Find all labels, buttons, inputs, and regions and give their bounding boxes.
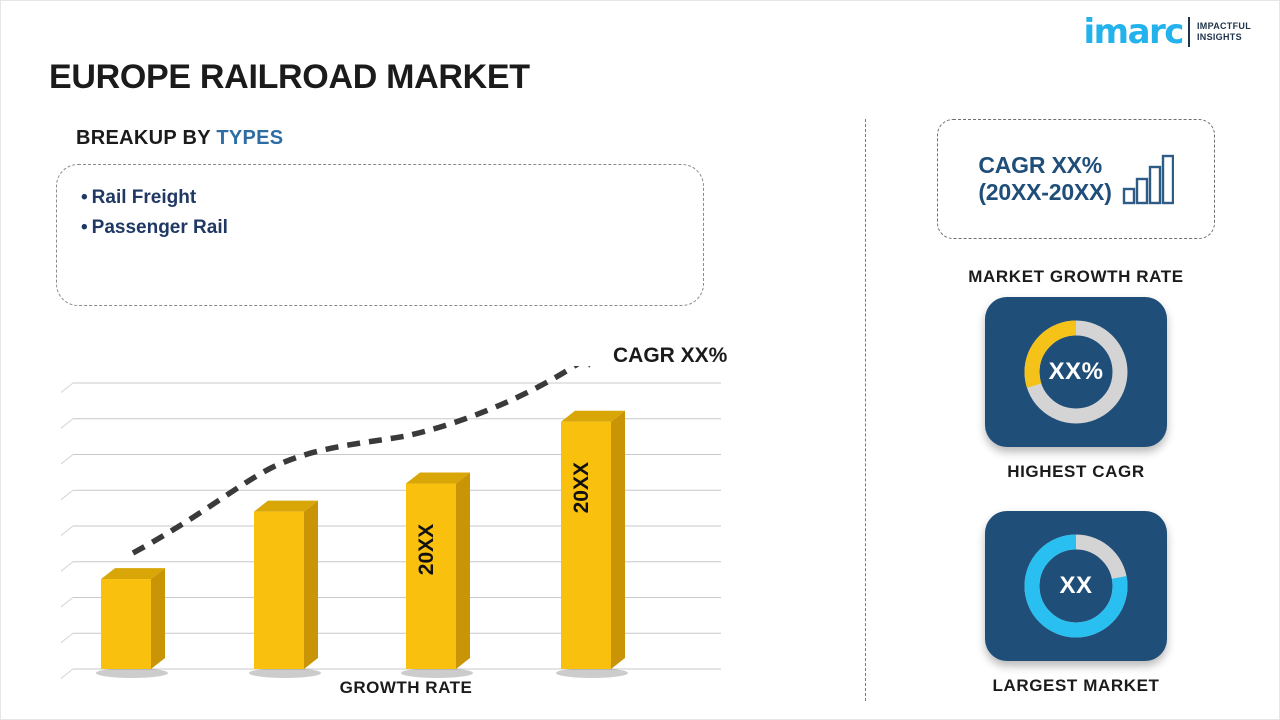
bar-front-face (254, 512, 304, 669)
section-subtitle: BREAKUP BY TYPES (76, 127, 283, 150)
chart-bars: 20XX20XX (96, 411, 628, 678)
types-list-box: •Rail Freight •Passenger Rail (56, 164, 704, 306)
bar-chart-icon (1122, 153, 1174, 205)
bar-side-face (151, 568, 165, 669)
chart-x-axis-label: GROWTH RATE (61, 678, 751, 698)
cagr-line2: (20XX-20XX) (978, 179, 1111, 206)
panel-divider (865, 119, 866, 701)
metrics-panel: CAGR XX% (20XX-20XX) MARKET GROWTH RATE … (881, 119, 1271, 709)
chart-bar (96, 568, 168, 678)
subtitle-prefix: BREAKUP BY (76, 127, 211, 149)
bar-shadow (401, 668, 473, 678)
gridline-depth-stub (61, 455, 73, 466)
highest-cagr-tile: XX% (985, 297, 1167, 447)
bar-shadow (96, 668, 168, 678)
trend-line-group (133, 366, 599, 553)
cagr-value-text: CAGR XX% (20XX-20XX) (978, 152, 1111, 206)
gridline-depth-stub (61, 633, 73, 644)
gridline-depth-stub (61, 490, 73, 501)
bar-front-face (101, 579, 151, 669)
chart-bar (249, 501, 321, 678)
bar-front-face (561, 422, 611, 669)
chart-canvas: 20XX20XX (61, 366, 751, 686)
largest-market-tile: XX (985, 511, 1167, 661)
list-item: •Rail Freight (81, 183, 703, 213)
logo-tagline-line1: IMPACTFUL (1197, 21, 1251, 32)
gridline-depth-stub (61, 383, 73, 394)
bar-front-face (406, 484, 456, 669)
bullet-icon: • (81, 217, 88, 238)
chart-cagr-annotation: CAGR XX% (613, 344, 727, 368)
trend-dashed-line (133, 366, 585, 553)
highest-cagr-value: XX% (985, 297, 1167, 447)
logo-wordmark: imarc (1084, 15, 1183, 49)
chart-bar: 20XX (401, 473, 473, 678)
logo-tagline-line2: INSIGHTS (1197, 32, 1251, 43)
bar-side-face (456, 473, 470, 669)
subtitle-accent: TYPES (216, 127, 283, 149)
trend-arrow-head (585, 366, 599, 368)
gridline-depth-stub (61, 598, 73, 609)
gridline-depth-stub (61, 562, 73, 573)
bar-side-face (304, 501, 318, 669)
bar-side-face (611, 411, 625, 669)
logo-divider (1188, 17, 1190, 47)
cagr-line1: CAGR XX% (978, 152, 1111, 179)
list-item: •Passenger Rail (81, 213, 703, 243)
gridline-depth-stub (61, 419, 73, 430)
bullet-icon: • (81, 187, 88, 208)
bar-value-label: 20XX (570, 462, 593, 513)
list-item-label: Passenger Rail (92, 217, 228, 238)
page-title: EUROPE RAILROAD MARKET (49, 58, 530, 97)
gridline-depth-stub (61, 526, 73, 537)
brand-logo: imarc IMPACTFUL INSIGHTS (1084, 15, 1251, 49)
largest-market-value: XX (985, 511, 1167, 661)
market-growth-rate-box: CAGR XX% (20XX-20XX) (937, 119, 1215, 239)
chart-bar: 20XX (556, 411, 628, 678)
highest-cagr-label: HIGHEST CAGR (881, 462, 1271, 482)
largest-market-label: LARGEST MARKET (881, 676, 1271, 696)
growth-rate-bar-chart: 20XX20XX CAGR XX% GROWTH RATE (61, 366, 751, 711)
logo-tagline: IMPACTFUL INSIGHTS (1197, 21, 1251, 44)
bar-shadow (556, 668, 628, 678)
market-growth-rate-label: MARKET GROWTH RATE (881, 267, 1271, 287)
bar-shadow (249, 668, 321, 678)
bar-value-label: 20XX (415, 524, 438, 575)
list-item-label: Rail Freight (92, 187, 197, 208)
